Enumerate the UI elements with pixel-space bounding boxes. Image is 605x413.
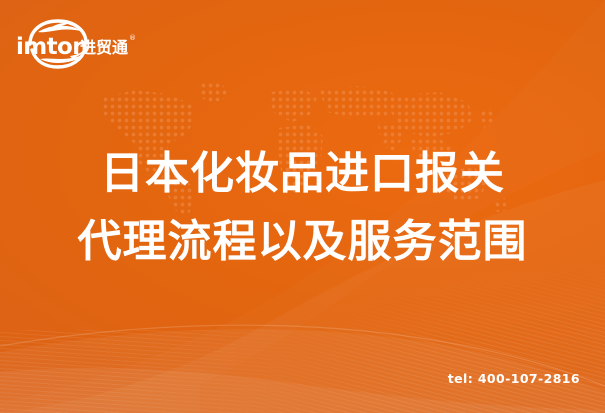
imton-logo[interactable]: imton 进贸通 ® <box>16 18 138 70</box>
logo-chinese-name: 进贸通 <box>80 38 128 57</box>
logo-wordmark: imton <box>16 34 88 60</box>
promo-banner: imton 进贸通 ® 日本化妆品进口报关 代理流程以及服务范围 tel: 40… <box>0 0 605 413</box>
headline-line-2: 代理流程以及服务范围 <box>0 208 605 276</box>
headline-line-1: 日本化妆品进口报关 <box>0 140 605 208</box>
registered-mark: ® <box>129 34 136 42</box>
headline: 日本化妆品进口报关 代理流程以及服务范围 <box>0 140 605 276</box>
contact-telephone: tel: 400-107-2816 <box>448 371 580 386</box>
